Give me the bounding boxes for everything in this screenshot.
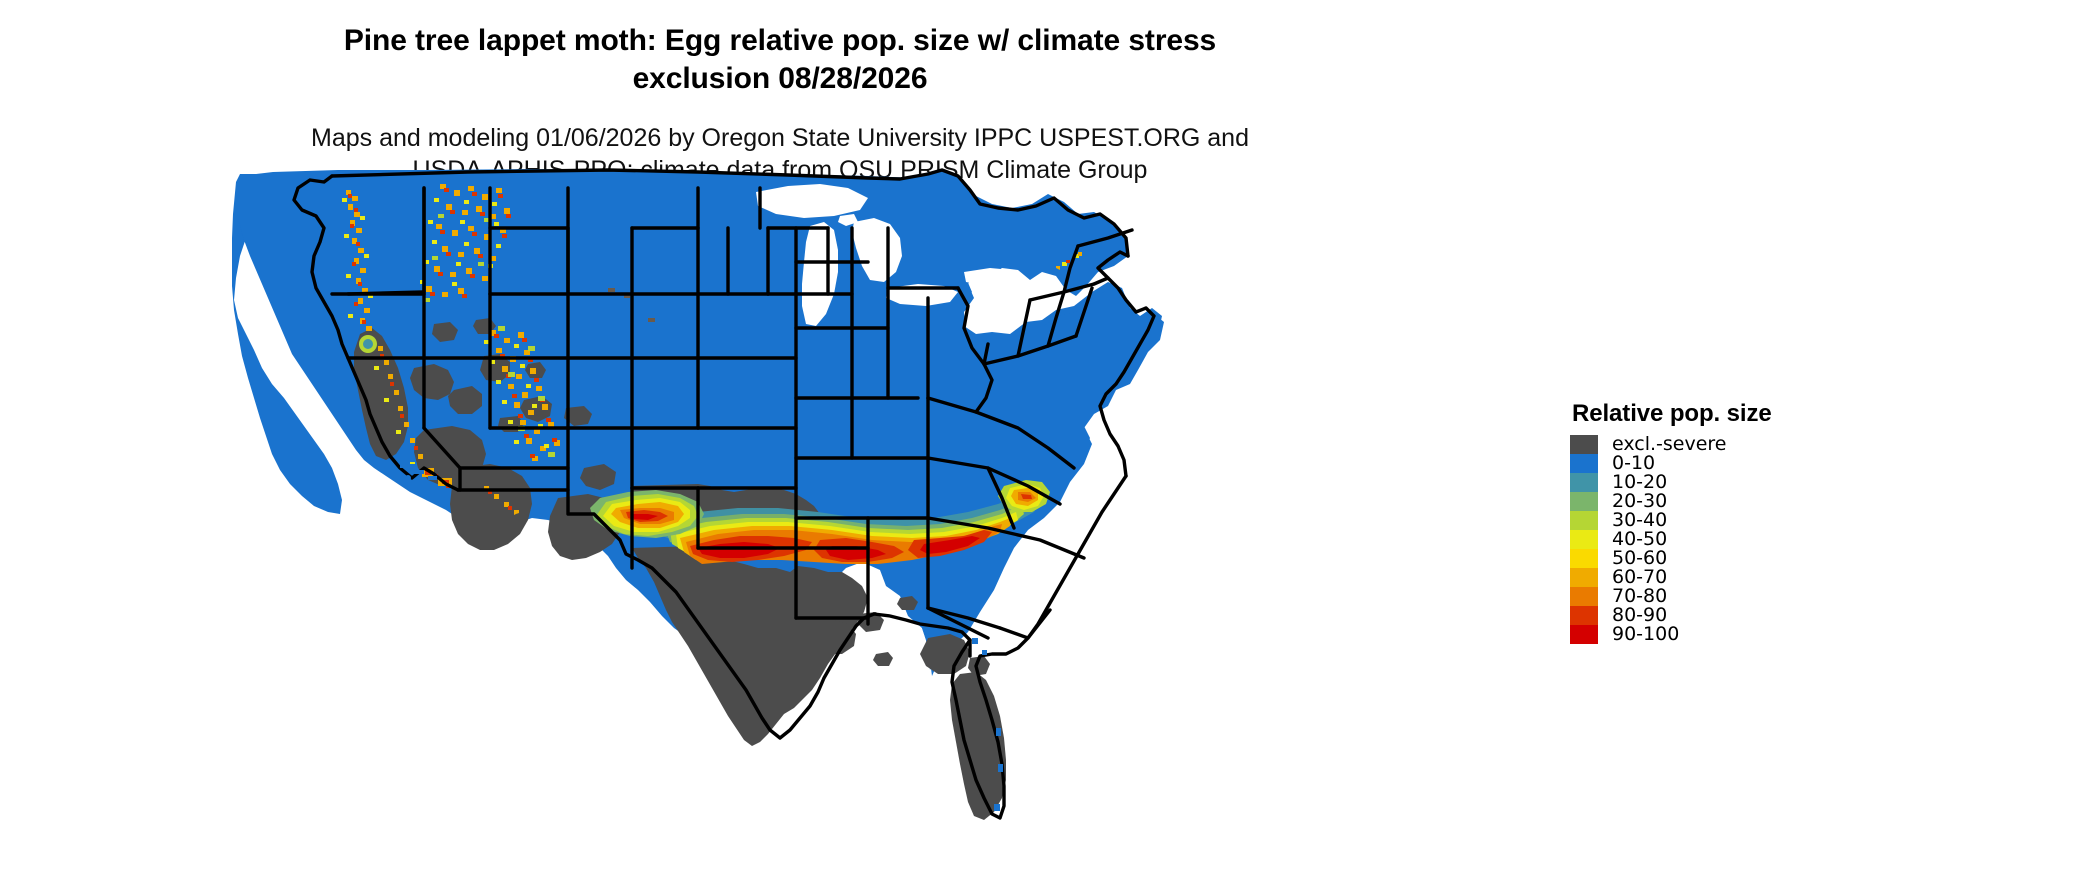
legend-swatch-icon — [1570, 511, 1598, 530]
legend-swatch-icon — [1570, 606, 1598, 625]
legend-title: Relative pop. size — [1572, 400, 1900, 428]
title-line-1: Pine tree lappet moth: Egg relative pop.… — [0, 22, 1560, 60]
legend-swatch-icon — [1570, 492, 1598, 511]
subtitle-line-1: Maps and modeling 01/06/2026 by Oregon S… — [0, 122, 1560, 154]
legend-swatch-icon — [1570, 587, 1598, 606]
us-choropleth-map — [228, 168, 1188, 868]
legend-item-label: 90-100 — [1612, 625, 1679, 644]
legend-swatch-icon — [1570, 625, 1598, 644]
legend-swatch-icon — [1570, 530, 1598, 549]
legend-items: excl.-severe 0-10 10-20 20-30 30-40 40-5 — [1570, 435, 1900, 644]
page-title: Pine tree lappet moth: Egg relative pop.… — [0, 22, 1560, 98]
legend-swatch-icon — [1570, 454, 1598, 473]
legend-swatch-icon — [1570, 568, 1598, 587]
title-line-2: exclusion 08/28/2026 — [0, 60, 1560, 98]
legend-swatch-icon — [1570, 435, 1598, 454]
map-canvas — [228, 168, 1188, 868]
legend-swatch-icon — [1570, 549, 1598, 568]
map-figure: Pine tree lappet moth: Egg relative pop.… — [0, 0, 2100, 892]
legend-swatch-icon — [1570, 473, 1598, 492]
legend: Relative pop. size excl.-severe 0-10 10-… — [1570, 400, 1900, 644]
legend-item-90-100[interactable]: 90-100 — [1570, 625, 1900, 644]
